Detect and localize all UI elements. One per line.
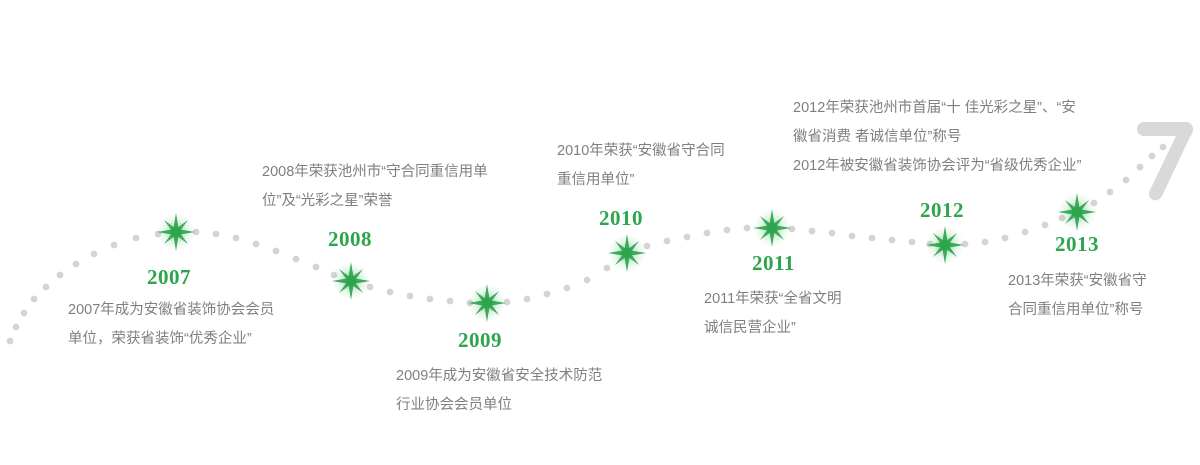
- star-ray: [484, 300, 501, 317]
- path-dot: [1022, 229, 1029, 236]
- path-dot: [1107, 189, 1114, 196]
- timeline-node-2007[interactable]: [157, 213, 195, 251]
- path-dot: [155, 231, 162, 238]
- description-line: 2012年荣获池州市首届“十 佳光彩之星”、“安: [793, 94, 1081, 123]
- timeline-node-2013[interactable]: [1058, 193, 1096, 231]
- description-line: 2007年成为安徽省装饰协会会员: [68, 296, 274, 325]
- path-dot: [1160, 144, 1167, 151]
- path-dot: [849, 233, 856, 240]
- path-dot: [31, 296, 38, 303]
- star-glow: [332, 262, 370, 300]
- path-dot: [909, 239, 916, 246]
- path-dot: [111, 242, 118, 249]
- star-glow: [926, 226, 964, 264]
- event-description-2009: 2009年成为安徽省安全技术防范行业协会会员单位: [396, 362, 602, 420]
- star-ray: [332, 278, 354, 284]
- star-ray: [931, 231, 948, 248]
- star-ray: [942, 242, 964, 248]
- path-dot: [133, 235, 140, 242]
- star-ray: [613, 250, 630, 267]
- description-line: 徽省消费 者诚信单位”称号: [793, 123, 1081, 152]
- year-label-2011: 2011: [752, 251, 795, 276]
- path-dot: [829, 230, 836, 237]
- description-line: 单位，荣获省装饰“优秀企业”: [68, 325, 274, 354]
- star-glow: [468, 284, 506, 322]
- year-label-2009: 2009: [458, 328, 502, 353]
- star-ray: [173, 229, 190, 246]
- star-core: [622, 248, 632, 258]
- path-dot: [387, 289, 394, 296]
- star-ray: [162, 229, 179, 246]
- star-ray: [1074, 209, 1096, 215]
- path-dot: [1123, 177, 1130, 184]
- path-dot: [584, 277, 591, 284]
- star-ray: [173, 213, 179, 235]
- timeline-node-2008[interactable]: [332, 262, 370, 300]
- path-dot: [313, 264, 320, 271]
- path-dot: [233, 235, 240, 242]
- year-label-2008: 2008: [328, 227, 372, 252]
- star-ray: [484, 300, 506, 306]
- event-description-2010: 2010年荣获“安徽省守合同重信用单位”: [557, 137, 725, 195]
- path-dot: [744, 225, 751, 232]
- path-dot: [684, 234, 691, 241]
- star-core: [767, 223, 777, 233]
- timeline-node-2011[interactable]: [753, 209, 791, 247]
- path-dot: [1059, 215, 1066, 222]
- star-core: [171, 227, 181, 237]
- description-line: 重信用单位”: [557, 166, 725, 195]
- star-glow: [753, 209, 791, 247]
- path-dot: [193, 229, 200, 236]
- star-ray: [348, 278, 365, 295]
- event-description-2008: 2008年荣获池州市“守合同重信用单位”及“光彩之星”荣誉: [262, 158, 488, 216]
- star-ray: [1074, 198, 1091, 215]
- star-ray: [931, 242, 948, 259]
- star-ray: [173, 229, 195, 235]
- star-ray: [926, 242, 948, 248]
- star-ray: [157, 229, 179, 235]
- star-ray: [348, 267, 365, 284]
- timeline-node-2009[interactable]: [468, 284, 506, 322]
- path-dot: [962, 241, 969, 248]
- star-ray: [1074, 209, 1080, 231]
- year-label-2012: 2012: [920, 198, 964, 223]
- path-dot: [367, 284, 374, 291]
- timeline-node-2010[interactable]: [608, 234, 646, 272]
- event-description-2011: 2011年荣获“全省文明诚信民营企业”: [704, 285, 842, 343]
- path-dot: [704, 230, 711, 237]
- path-dot: [13, 324, 20, 331]
- path-dot: [57, 272, 64, 279]
- path-dot: [524, 296, 531, 303]
- path-dot: [889, 237, 896, 244]
- star-ray: [337, 267, 354, 284]
- star-ray: [468, 300, 490, 306]
- star-ray: [624, 234, 630, 256]
- year-label-2013: 2013: [1055, 232, 1099, 257]
- star-ray: [942, 242, 959, 259]
- path-dot: [869, 235, 876, 242]
- star-glow: [157, 213, 195, 251]
- star-ray: [173, 229, 179, 251]
- star-ray: [608, 250, 630, 256]
- description-line: 2009年成为安徽省安全技术防范: [396, 362, 602, 391]
- path-dot: [467, 300, 474, 307]
- star-ray: [769, 209, 775, 231]
- description-line: 2011年荣获“全省文明: [704, 285, 842, 314]
- star-ray: [1074, 209, 1091, 226]
- path-dot: [564, 285, 571, 292]
- star-ray: [162, 218, 179, 235]
- star-ray: [473, 300, 490, 317]
- star-ray: [624, 239, 641, 256]
- description-line: 位”及“光彩之星”荣誉: [262, 187, 488, 216]
- description-line: 诚信民营企业”: [704, 314, 842, 343]
- path-dot: [213, 231, 220, 238]
- event-description-2013: 2013年荣获“安徽省守合同重信用单位”称号: [1008, 267, 1147, 325]
- path-dot: [447, 298, 454, 305]
- star-ray: [624, 250, 646, 256]
- description-line: 行业协会会员单位: [396, 391, 602, 420]
- path-dot: [789, 226, 796, 233]
- star-core: [940, 240, 950, 250]
- star-core: [482, 298, 492, 308]
- path-dot: [7, 338, 14, 345]
- timeline-infographic: 20072007年成为安徽省装饰协会会员单位，荣获省装饰“优秀企业”200820…: [0, 0, 1200, 465]
- star-ray: [942, 242, 948, 264]
- path-dot: [724, 227, 731, 234]
- path-dot: [544, 291, 551, 298]
- arrow-seven-glyph: [1136, 112, 1194, 204]
- star-ray: [348, 278, 370, 284]
- star-ray: [337, 278, 354, 295]
- path-dot: [253, 241, 260, 248]
- path-dot: [1042, 222, 1049, 229]
- path-dot: [1137, 164, 1144, 171]
- path-dot: [504, 299, 511, 306]
- star-ray: [758, 214, 775, 231]
- path-dot: [1149, 153, 1156, 160]
- path-dot: [273, 248, 280, 255]
- path-dot: [809, 228, 816, 235]
- star-ray: [348, 262, 354, 284]
- description-line: 2010年荣获“安徽省守合同: [557, 137, 725, 166]
- star-ray: [1058, 209, 1080, 215]
- star-ray: [348, 278, 354, 300]
- star-ray: [753, 225, 775, 231]
- path-dot: [331, 272, 338, 279]
- event-description-2012: 2012年荣获池州市首届“十 佳光彩之星”、“安徽省消费 者诚信单位”称号201…: [793, 94, 1081, 181]
- path-dot: [73, 261, 80, 268]
- description-line: 2012年被安徽省装饰协会评为“省级优秀企业”: [793, 152, 1081, 181]
- year-label-2007: 2007: [147, 265, 191, 290]
- star-ray: [769, 225, 786, 242]
- path-dot: [927, 241, 934, 248]
- description-line: 2013年荣获“安徽省守: [1008, 267, 1147, 296]
- star-ray: [173, 218, 190, 235]
- timeline-node-2012[interactable]: [926, 226, 964, 264]
- path-dot: [604, 265, 611, 272]
- star-ray: [473, 289, 490, 306]
- star-ray: [484, 289, 501, 306]
- star-ray: [624, 250, 641, 267]
- star-ray: [613, 239, 630, 256]
- star-ray: [484, 300, 490, 322]
- path-dot: [43, 284, 50, 291]
- path-dot: [91, 251, 98, 258]
- path-dot: [1091, 200, 1098, 207]
- star-glow: [608, 234, 646, 272]
- event-description-2007: 2007年成为安徽省装饰协会会员单位，荣获省装饰“优秀企业”: [68, 296, 274, 354]
- star-ray: [484, 284, 490, 306]
- star-ray: [1074, 193, 1080, 215]
- star-ray: [624, 250, 630, 272]
- star-ray: [769, 214, 786, 231]
- star-ray: [1063, 209, 1080, 226]
- star-ray: [769, 225, 791, 231]
- star-ray: [942, 226, 948, 248]
- star-ray: [758, 225, 775, 242]
- star-core: [1072, 207, 1082, 217]
- star-ray: [1063, 198, 1080, 215]
- path-dot: [644, 243, 651, 250]
- year-label-2010: 2010: [599, 206, 643, 231]
- path-dot: [664, 238, 671, 245]
- star-ray: [769, 225, 775, 247]
- star-core: [346, 276, 356, 286]
- star-glow: [1058, 193, 1096, 231]
- path-dot: [407, 293, 414, 300]
- description-line: 合同重信用单位”称号: [1008, 296, 1147, 325]
- path-dot: [293, 256, 300, 263]
- description-line: 2008年荣获池州市“守合同重信用单: [262, 158, 488, 187]
- path-dot: [1002, 235, 1009, 242]
- path-dot: [427, 296, 434, 303]
- star-ray: [942, 231, 959, 248]
- path-dot: [21, 310, 28, 317]
- path-dot: [982, 239, 989, 246]
